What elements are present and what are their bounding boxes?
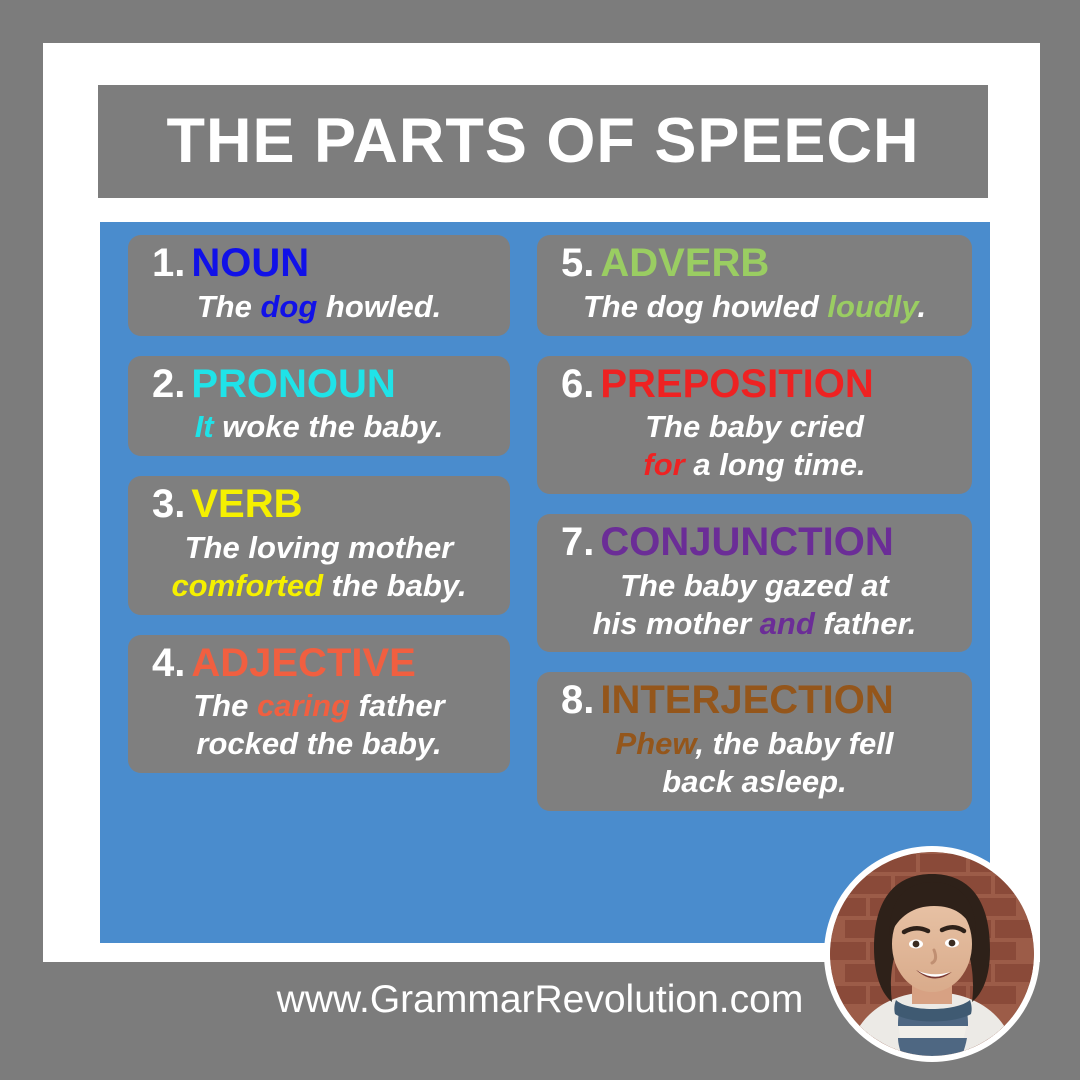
title-bar: THE PARTS OF SPEECH xyxy=(98,85,988,198)
card-heading: 7.CONJUNCTION xyxy=(549,520,960,565)
example-text: The loving mother xyxy=(185,530,454,565)
card-example-sentence: The dog howled loudly. xyxy=(549,288,960,326)
part-of-speech-card[interactable]: 4.ADJECTIVEThe caring fatherrocked the b… xyxy=(128,635,510,773)
example-text: The xyxy=(197,289,261,324)
part-of-speech-card[interactable]: 5.ADVERBThe dog howled loudly. xyxy=(537,235,972,336)
card-heading: 4.ADJECTIVE xyxy=(140,641,498,686)
highlighted-word: and xyxy=(760,606,815,641)
example-text: his mother xyxy=(593,606,760,641)
website-url[interactable]: www.GrammarRevolution.com xyxy=(0,978,1080,1022)
example-text: rocked the baby. xyxy=(196,726,441,761)
example-line: comforted the baby. xyxy=(140,567,498,605)
example-text: a long time. xyxy=(685,447,866,482)
example-text: The xyxy=(193,688,257,723)
example-line: Phew, the baby fell xyxy=(549,725,960,763)
card-example-sentence: The caring fatherrocked the baby. xyxy=(140,687,498,763)
part-of-speech-label: INTERJECTION xyxy=(600,678,893,722)
part-of-speech-label: CONJUNCTION xyxy=(600,520,893,564)
page-title: THE PARTS OF SPEECH xyxy=(167,110,920,173)
card-number: 5. xyxy=(561,241,594,285)
card-heading: 2.PRONOUN xyxy=(140,362,498,407)
part-of-speech-label: VERB xyxy=(191,482,302,526)
part-of-speech-card[interactable]: 3.VERBThe loving mothercomforted the bab… xyxy=(128,476,510,614)
example-text: woke the baby. xyxy=(214,409,444,444)
card-number: 8. xyxy=(561,678,594,722)
card-number: 1. xyxy=(152,241,185,285)
example-text: . xyxy=(918,289,927,324)
card-heading: 5.ADVERB xyxy=(549,241,960,286)
highlighted-word: caring xyxy=(257,688,350,723)
example-text: father xyxy=(350,688,445,723)
highlighted-word: loudly xyxy=(827,289,917,324)
example-line: The dog howled. xyxy=(140,288,498,326)
card-number: 4. xyxy=(152,641,185,685)
highlighted-word: for xyxy=(643,447,684,482)
card-example-sentence: It woke the baby. xyxy=(140,408,498,446)
example-text: The dog howled xyxy=(583,289,828,324)
example-line: It woke the baby. xyxy=(140,408,498,446)
example-line: The baby cried xyxy=(549,408,960,446)
highlighted-word: It xyxy=(195,409,214,444)
example-text: , the baby fell xyxy=(695,726,893,761)
author-avatar xyxy=(824,846,1040,1062)
card-example-sentence: The loving mothercomforted the baby. xyxy=(140,529,498,605)
example-line: back asleep. xyxy=(549,763,960,801)
column-left: 1.NOUNThe dog howled.2.PRONOUNIt woke th… xyxy=(128,235,510,793)
highlighted-word: comforted xyxy=(171,568,323,603)
card-example-sentence: The baby criedfor a long time. xyxy=(549,408,960,484)
example-text: The baby cried xyxy=(645,409,864,444)
column-right: 5.ADVERBThe dog howled loudly.6.PREPOSIT… xyxy=(537,235,972,831)
card-number: 7. xyxy=(561,520,594,564)
part-of-speech-label: PRONOUN xyxy=(191,362,395,406)
part-of-speech-card[interactable]: 8.INTERJECTIONPhew, the baby fellback as… xyxy=(537,672,972,810)
example-line: rocked the baby. xyxy=(140,725,498,763)
part-of-speech-card[interactable]: 2.PRONOUNIt woke the baby. xyxy=(128,356,510,457)
highlighted-word: dog xyxy=(260,289,317,324)
example-line: for a long time. xyxy=(549,446,960,484)
card-example-sentence: Phew, the baby fellback asleep. xyxy=(549,725,960,801)
parts-of-speech-poster: THE PARTS OF SPEECH 1.NOUNThe dog howled… xyxy=(0,0,1080,1080)
card-number: 6. xyxy=(561,362,594,406)
example-line: his mother and father. xyxy=(549,605,960,643)
part-of-speech-card[interactable]: 7.CONJUNCTIONThe baby gazed athis mother… xyxy=(537,514,972,652)
part-of-speech-card[interactable]: 6.PREPOSITIONThe baby criedfor a long ti… xyxy=(537,356,972,494)
example-text: howled. xyxy=(317,289,441,324)
highlighted-word: Phew xyxy=(616,726,696,761)
example-text: the baby. xyxy=(323,568,467,603)
card-number: 3. xyxy=(152,482,185,526)
avatar-image xyxy=(830,852,1034,1056)
example-line: The dog howled loudly. xyxy=(549,288,960,326)
example-line: The baby gazed at xyxy=(549,567,960,605)
card-example-sentence: The baby gazed athis mother and father. xyxy=(549,567,960,643)
part-of-speech-label: ADJECTIVE xyxy=(191,641,416,685)
card-heading: 1.NOUN xyxy=(140,241,498,286)
part-of-speech-card[interactable]: 1.NOUNThe dog howled. xyxy=(128,235,510,336)
card-heading: 3.VERB xyxy=(140,482,498,527)
card-heading: 6.PREPOSITION xyxy=(549,362,960,407)
example-text: The baby gazed at xyxy=(620,568,889,603)
example-line: The loving mother xyxy=(140,529,498,567)
smiling-woman-portrait-brick-wall-icon xyxy=(830,852,1034,1056)
part-of-speech-label: ADVERB xyxy=(600,241,769,285)
part-of-speech-label: PREPOSITION xyxy=(600,362,873,406)
parts-of-speech-panel: 1.NOUNThe dog howled.2.PRONOUNIt woke th… xyxy=(100,222,990,943)
card-heading: 8.INTERJECTION xyxy=(549,678,960,723)
part-of-speech-label: NOUN xyxy=(191,241,309,285)
example-text: back asleep. xyxy=(662,764,846,799)
card-number: 2. xyxy=(152,362,185,406)
example-line: The caring father xyxy=(140,687,498,725)
card-example-sentence: The dog howled. xyxy=(140,288,498,326)
example-text: father. xyxy=(815,606,917,641)
